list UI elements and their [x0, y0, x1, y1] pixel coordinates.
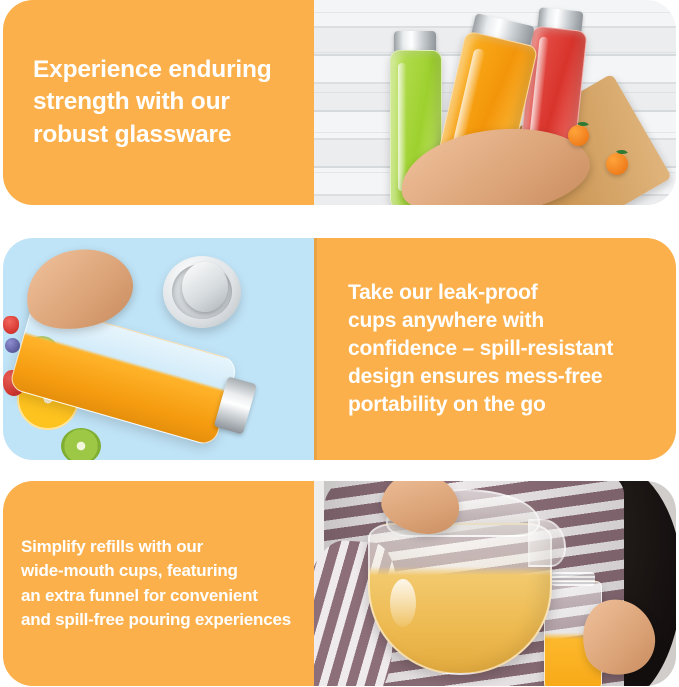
panel-1-headline: Experience enduring strength with our ro… — [33, 54, 272, 150]
glass-highlight — [398, 63, 406, 191]
bottle-thread — [551, 572, 595, 586]
orange-fruit — [568, 125, 589, 146]
panel-1-photo — [314, 0, 676, 205]
blueberry — [5, 338, 20, 353]
panel-2-headline: Take our leak-proof cups anywhere with c… — [348, 279, 613, 420]
panel-3-text-block: Simplify refills with our wide-mouth cup… — [3, 481, 314, 686]
panel-2-text-block: Take our leak-proof cups anywhere with c… — [314, 238, 676, 460]
panel-3-photo — [314, 481, 676, 686]
feature-panel-board: Experience enduring strength with our ro… — [0, 0, 679, 687]
feature-panel-1: Experience enduring strength with our ro… — [3, 0, 676, 205]
glass-highlight — [390, 579, 416, 627]
kiwi-slice — [61, 428, 101, 460]
feature-panel-3: Simplify refills with our wide-mouth cup… — [3, 481, 676, 686]
lid-inner-funnel — [182, 262, 228, 312]
feature-panel-2: Take our leak-proof cups anywhere with c… — [3, 238, 676, 460]
strawberry — [3, 316, 19, 334]
stainless-steel-lid — [163, 256, 241, 328]
panel-2-photo — [3, 238, 314, 460]
panel-1-text-block: Experience enduring strength with our ro… — [3, 0, 314, 205]
panel-3-headline: Simplify refills with our wide-mouth cup… — [21, 535, 291, 632]
orange-fruit — [606, 153, 628, 175]
